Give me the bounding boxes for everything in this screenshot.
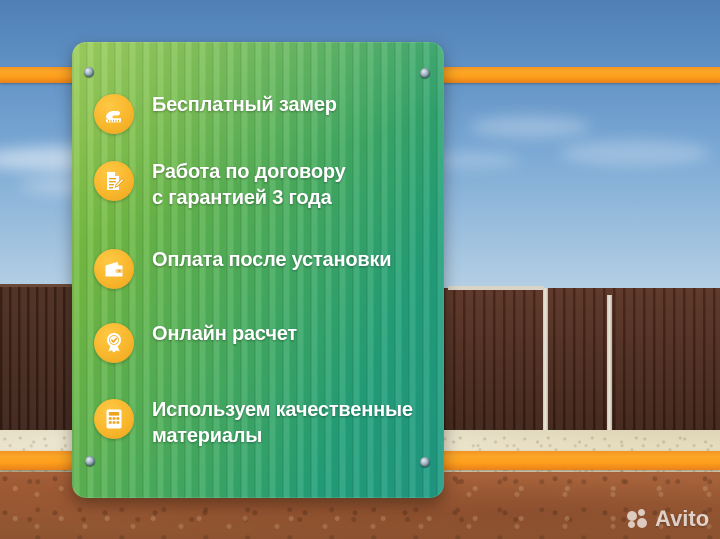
measuring-tape-icon bbox=[94, 94, 134, 134]
benefit-row: Используем качественные материалы bbox=[94, 397, 413, 449]
award-badge-icon bbox=[94, 323, 134, 363]
benefits-list: Бесплатный замер Работа по договору с га… bbox=[72, 42, 444, 498]
fence-post bbox=[543, 288, 548, 446]
contract-document-icon bbox=[94, 161, 134, 201]
avito-watermark: Avito bbox=[627, 506, 709, 532]
benefit-row: Бесплатный замер bbox=[94, 92, 337, 134]
fence-post bbox=[607, 295, 612, 447]
benefit-row: Работа по договору с гарантией 3 года bbox=[94, 159, 346, 211]
benefit-label: Работа по договору с гарантией 3 года bbox=[152, 159, 346, 211]
avito-dots-icon bbox=[627, 509, 649, 529]
fence-cap bbox=[448, 286, 544, 290]
benefit-label: Онлайн расчет bbox=[152, 321, 297, 347]
cloud bbox=[560, 140, 710, 166]
cloud bbox=[470, 116, 590, 138]
benefit-label: Используем качественные материалы bbox=[152, 397, 413, 449]
wallet-icon bbox=[94, 249, 134, 289]
benefit-label: Бесплатный замер bbox=[152, 92, 337, 118]
avito-wordmark: Avito bbox=[655, 508, 709, 530]
benefit-row: Оплата после установки bbox=[94, 247, 391, 289]
benefit-row: Онлайн расчет bbox=[94, 321, 297, 363]
benefit-label: Оплата после установки bbox=[152, 247, 391, 273]
screenshot-stage: Бесплатный замер Работа по договору с га… bbox=[0, 0, 720, 539]
fence-panel-left bbox=[0, 287, 74, 437]
calculator-icon bbox=[94, 399, 134, 439]
fence-panel-right bbox=[443, 288, 720, 443]
